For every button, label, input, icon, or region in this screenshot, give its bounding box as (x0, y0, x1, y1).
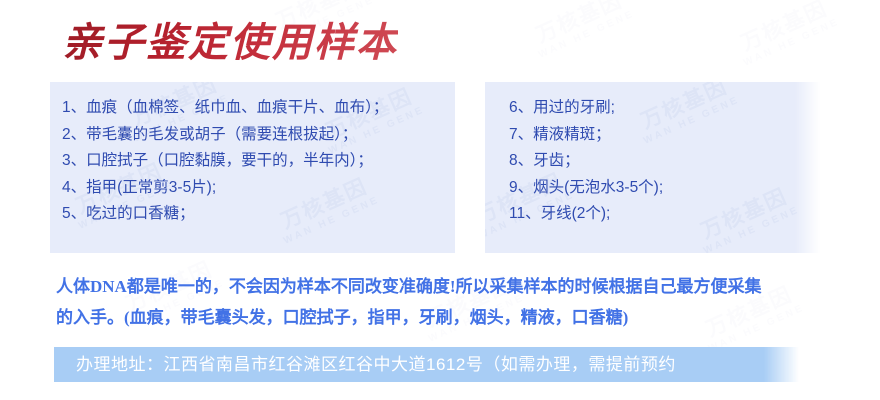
sample-item: 1、血痕（血棉签、纸巾血、血痕干片、血布）； (62, 95, 455, 122)
watermark-cn: 万核基因 (527, 0, 632, 51)
sample-list-right: 6、用过的牙刷; 7、精液精斑； 8、牙齿； 9、烟头(无泡水3-5个); 11… (485, 82, 820, 228)
address-text: 办理地址：江西省南昌市红谷滩区红谷中大道1612号（如需办理，需提前预约 (54, 347, 799, 382)
sample-item: 9、烟头(无泡水3-5个); (509, 175, 820, 202)
watermark-en: WAN HE GENE (537, 8, 637, 61)
watermark: 万核基因 WAN HE GENE (732, 0, 842, 69)
sample-item: 8、牙齿； (509, 148, 820, 175)
watermark: 万核基因 WAN HE GENE (527, 0, 637, 61)
sample-list-left: 1、血痕（血棉签、纸巾血、血痕干片、血布）； 2、带毛囊的毛发或胡子（需要连根拔… (50, 82, 455, 228)
sample-panel-left: 万核基因 WAN HE GENE 万核基因 WAN HE GENE 万核基因 W… (50, 82, 455, 253)
watermark-en: WAN HE GENE (742, 16, 842, 69)
sample-item: 3、口腔拭子（口腔黏膜，要干的，半年内）； (62, 148, 455, 175)
sample-item: 5、吃过的口香糖； (62, 201, 455, 228)
sample-item: 7、精液精斑； (509, 122, 820, 149)
sample-item: 4、指甲(正常剪3-5片); (62, 175, 455, 202)
page-title: 亲子鉴定使用样本 (62, 17, 398, 69)
sample-item: 11、牙线(2个); (509, 201, 820, 228)
note-paragraph: 人体DNA都是唯一的，不会因为样本不同改变准确度!所以采集样本的时候根据自己最方… (56, 271, 876, 333)
sample-item: 2、带毛囊的毛发或胡子（需要连根拔起）； (62, 122, 455, 149)
address-bar: 办理地址：江西省南昌市红谷滩区红谷中大道1612号（如需办理，需提前预约 (54, 347, 799, 382)
note-line-2: 的入手。(血痕，带毛囊头发，口腔拭子，指甲，牙刷，烟头，精液，口香糖) (56, 302, 876, 333)
note-line-1: 人体DNA都是唯一的，不会因为样本不同改变准确度!所以采集样本的时候根据自己最方… (56, 271, 876, 302)
watermark-cn: 万核基因 (732, 0, 837, 59)
sample-panel-right: 万核基因 WAN HE GENE 万核基因 WAN HE GENE 万核基因 W… (485, 82, 820, 253)
sample-item: 6、用过的牙刷; (509, 95, 820, 122)
